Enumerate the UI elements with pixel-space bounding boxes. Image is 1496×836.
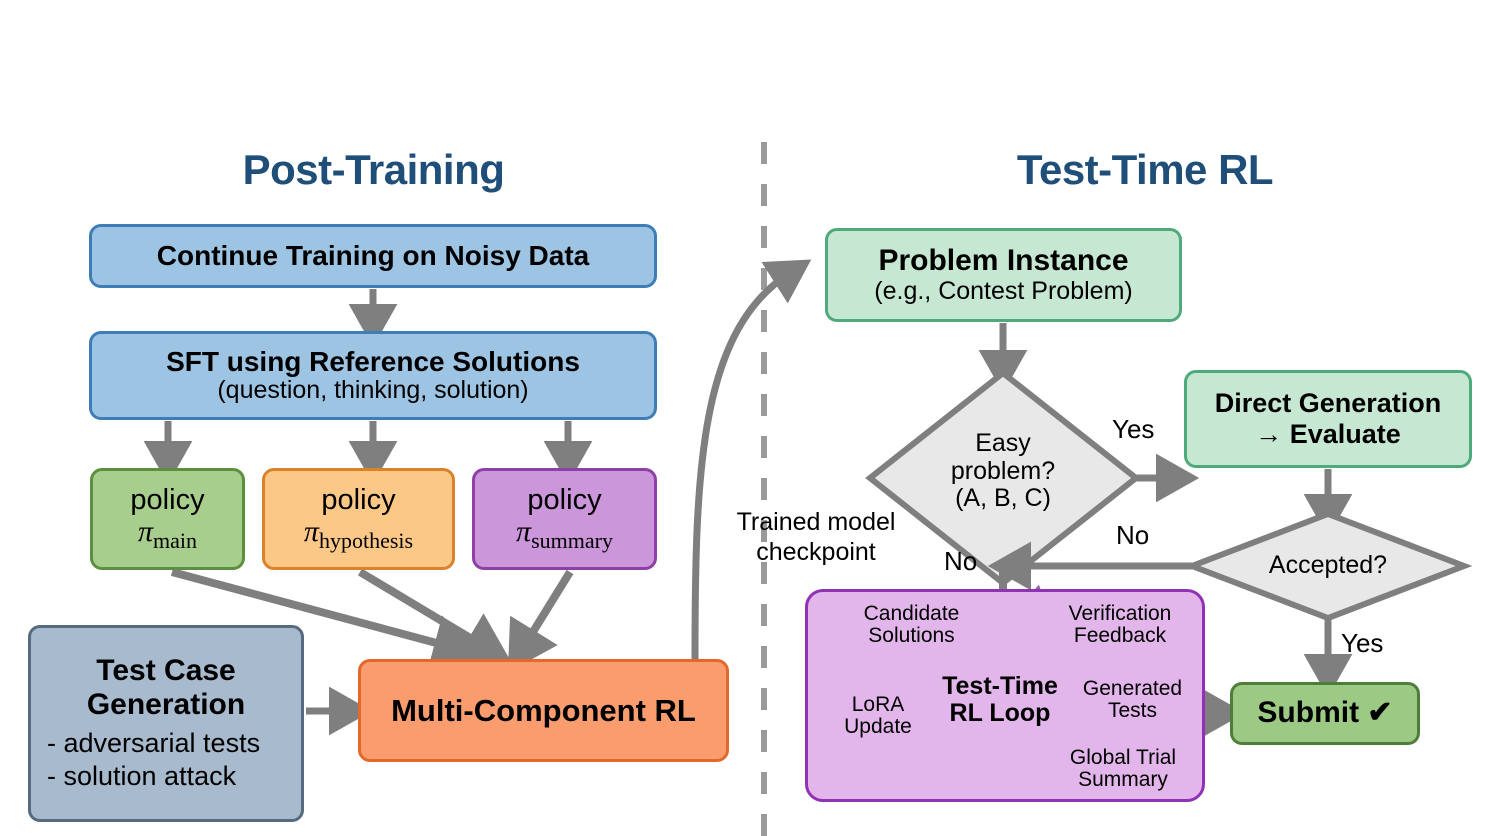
loop-label-generated-tests: Generated Tests xyxy=(1070,678,1195,722)
candidate-line1: Candidate xyxy=(844,603,979,625)
easy-problem-line1: Easy xyxy=(903,430,1103,458)
direct-generation-line1: Direct Generation xyxy=(1215,388,1442,419)
loop-label-global-trial-summary: Global Trial Summary xyxy=(1048,747,1198,791)
global-line2: Summary xyxy=(1048,769,1198,791)
lora-line2: Update xyxy=(832,716,924,738)
loop-center-line2: RL Loop xyxy=(920,700,1080,727)
test-case-bullet-adversarial: - adversarial tests xyxy=(39,727,293,760)
pi-glyph: π xyxy=(138,515,153,548)
candidate-line2: Solutions xyxy=(844,625,979,647)
node-multi-component-rl[interactable]: Multi-Component RL xyxy=(358,659,729,762)
node-test-time-rl-loop[interactable]: Candidate Solutions Verification Feedbac… xyxy=(805,589,1205,802)
node-direct-generation[interactable]: Direct Generation → Evaluate xyxy=(1184,370,1472,468)
policy-main-subscript: main xyxy=(153,528,197,553)
node-policy-main[interactable]: policy πmain xyxy=(90,468,245,570)
loop-label-verification-feedback: Verification Feedback xyxy=(1050,603,1190,647)
generated-line1: Generated xyxy=(1070,678,1195,700)
direct-generation-line2: → Evaluate xyxy=(1255,419,1401,450)
policy-main-word: policy xyxy=(130,485,204,516)
easy-problem-line3: (A, B, C) xyxy=(903,485,1103,513)
submit-label: Submit ✔ xyxy=(1257,697,1392,729)
section-title-post-training: Post-Training xyxy=(186,146,561,194)
easy-problem-line2: problem? xyxy=(903,458,1103,486)
policy-hypothesis-subscript: hypothesis xyxy=(319,528,413,553)
node-test-case-generation[interactable]: Test Case Generation - adversarial tests… xyxy=(28,625,304,822)
node-continue-training[interactable]: Continue Training on Noisy Data xyxy=(89,224,657,288)
policy-summary-word: policy xyxy=(527,485,601,516)
policy-hypothesis-word: policy xyxy=(321,485,395,516)
edge-label-yes-accepted: Yes xyxy=(1341,628,1383,659)
edge-label-no-easy: No xyxy=(944,546,977,577)
verification-line2: Feedback xyxy=(1050,625,1190,647)
easy-problem-diamond-label[interactable]: Easy problem? (A, B, C) xyxy=(903,430,1103,513)
policy-summary-subscript: summary xyxy=(531,528,613,553)
section-title-test-time-rl: Test-Time RL xyxy=(925,146,1365,194)
policy-hypothesis-symbol: πhypothesis xyxy=(304,516,413,553)
loop-center-line1: Test-Time xyxy=(920,673,1080,700)
lora-line1: LoRA xyxy=(832,694,924,716)
problem-instance-subtitle: (e.g., Contest Problem) xyxy=(874,278,1132,305)
global-line1: Global Trial xyxy=(1048,747,1198,769)
policy-main-symbol: πmain xyxy=(138,516,197,553)
policy-summary-symbol: πsummary xyxy=(516,516,613,553)
node-submit[interactable]: Submit ✔ xyxy=(1230,682,1420,745)
node-problem-instance[interactable]: Problem Instance (e.g., Contest Problem) xyxy=(825,228,1182,322)
verification-line1: Verification xyxy=(1050,603,1190,625)
sft-title: SFT using Reference Solutions xyxy=(166,347,580,377)
edge-label-yes-easy: Yes xyxy=(1112,414,1154,445)
loop-label-candidate-solutions: Candidate Solutions xyxy=(844,603,979,647)
loop-center-label: Test-Time RL Loop xyxy=(920,673,1080,727)
trained-model-checkpoint-label: Trained model checkpoint xyxy=(718,508,914,567)
problem-instance-title: Problem Instance xyxy=(878,245,1128,277)
loop-label-lora-update: LoRA Update xyxy=(832,694,924,738)
node-policy-summary[interactable]: policy πsummary xyxy=(472,468,657,570)
accepted-line1: Accepted? xyxy=(1240,552,1416,580)
sft-subtitle: (question, thinking, solution) xyxy=(217,377,528,404)
pi-glyph: π xyxy=(516,515,531,548)
test-case-title-line2: Generation xyxy=(87,688,245,722)
accepted-diamond-label[interactable]: Accepted? xyxy=(1240,552,1416,580)
trained-checkpoint-line2: checkpoint xyxy=(718,538,914,568)
generated-line2: Tests xyxy=(1070,700,1195,722)
diagram-canvas: Post-Training Test-Time RL Continue Trai… xyxy=(0,0,1496,836)
node-policy-hypothesis[interactable]: policy πhypothesis xyxy=(262,468,455,570)
test-case-bullet-solution-attack: - solution attack xyxy=(39,760,293,793)
node-sft[interactable]: SFT using Reference Solutions (question,… xyxy=(89,331,657,420)
continue-training-label: Continue Training on Noisy Data xyxy=(157,241,589,271)
test-case-title-line1: Test Case xyxy=(96,654,236,688)
trained-checkpoint-line1: Trained model xyxy=(718,508,914,538)
multi-component-rl-label: Multi-Component RL xyxy=(391,694,696,727)
pi-glyph: π xyxy=(304,515,319,548)
accepted-diamond-shape xyxy=(1192,514,1464,618)
edge-label-no-accepted: No xyxy=(1116,520,1149,551)
